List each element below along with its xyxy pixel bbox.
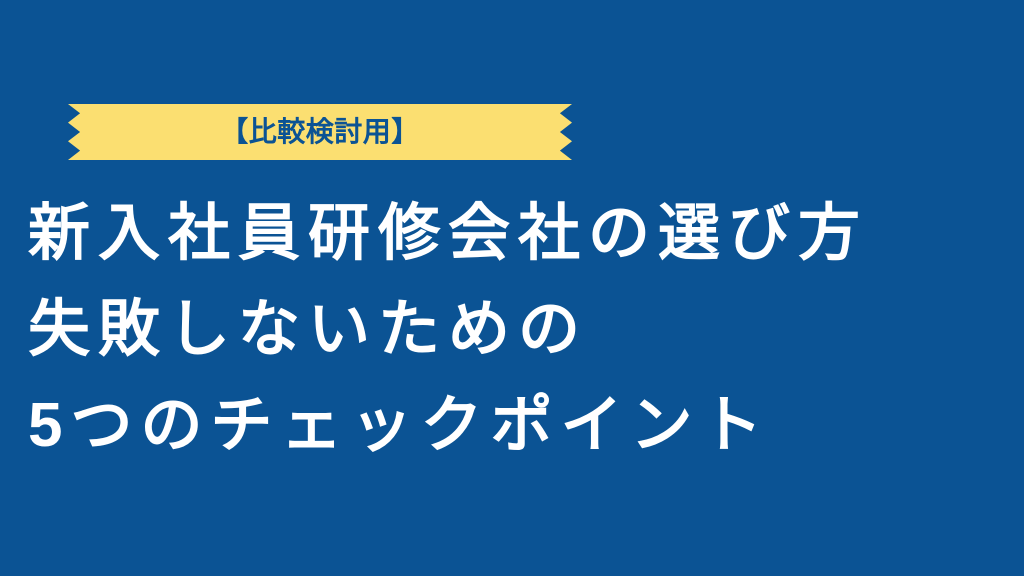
category-ribbon-banner: 【比較検討用】: [68, 104, 572, 160]
category-ribbon-label: 【比較検討用】: [220, 118, 420, 146]
title-slide: 【比較検討用】 新入社員研修会社の選び方 失敗しないための 5つのチェックポイン…: [0, 0, 1024, 576]
headline-line-1: 新入社員研修会社の選び方: [28, 186, 996, 282]
headline-line-3: 5つのチェックポイント: [28, 378, 996, 474]
headline-line-2: 失敗しないための: [28, 282, 996, 378]
headline-block: 新入社員研修会社の選び方 失敗しないための 5つのチェックポイント: [28, 186, 996, 474]
